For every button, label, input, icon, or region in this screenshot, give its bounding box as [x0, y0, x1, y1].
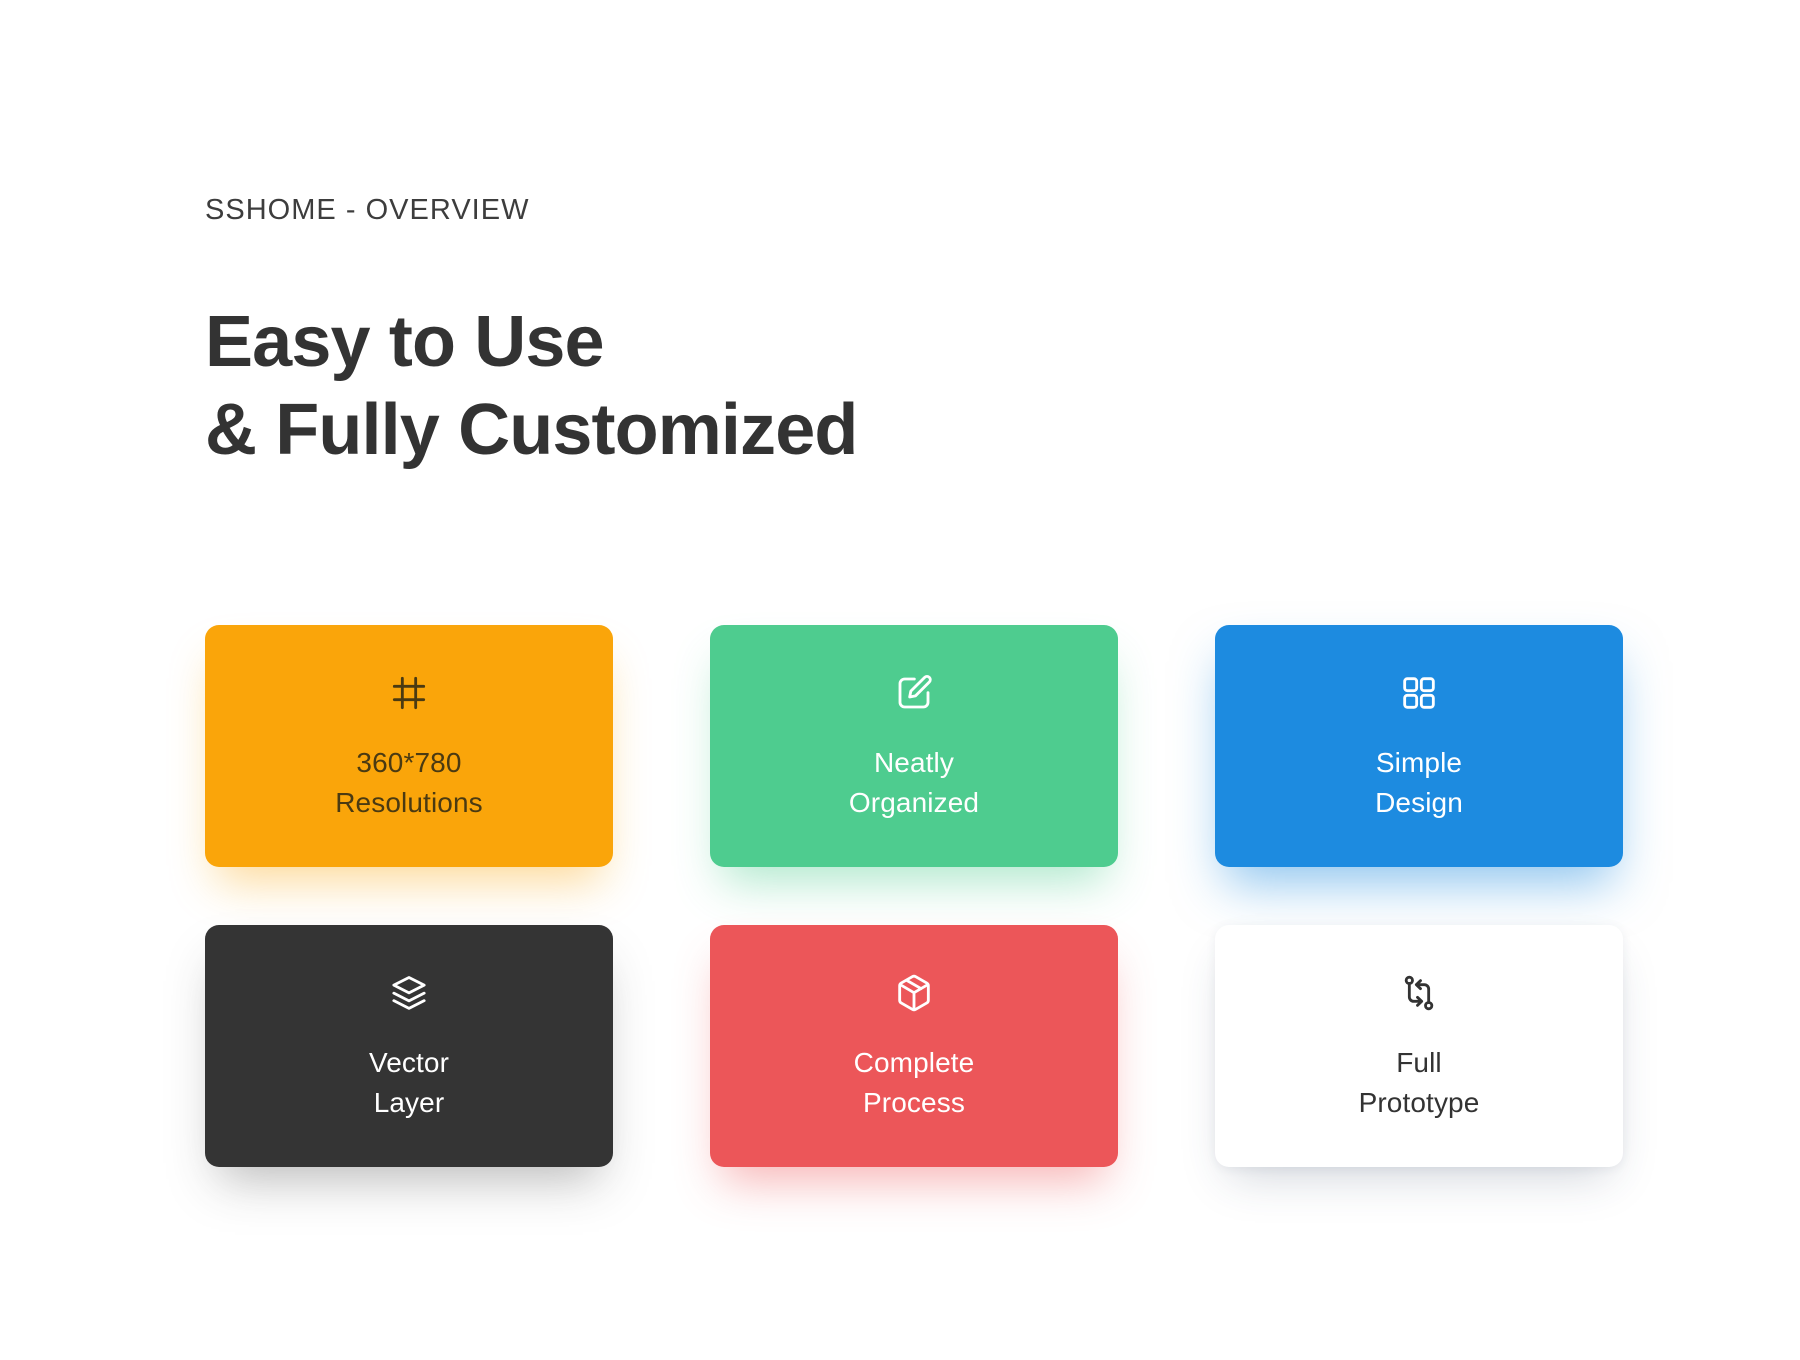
feature-card-label-line-1: Vector: [369, 1043, 449, 1083]
feature-card-label-line-2: Prototype: [1359, 1083, 1480, 1123]
feature-card-label-line-2: Resolutions: [335, 783, 483, 823]
shuffle-swap-icon: [1399, 973, 1439, 1013]
feature-card-simple-design[interactable]: Simple Design: [1215, 625, 1623, 867]
grid-apps-icon: [1399, 673, 1439, 713]
feature-card-label-line-1: Neatly: [849, 743, 979, 783]
feature-card-label-line-2: Layer: [369, 1083, 449, 1123]
edit-square-icon: [894, 673, 934, 713]
feature-card-full-prototype[interactable]: Full Prototype: [1215, 925, 1623, 1167]
page-title-line-1: Easy to Use: [205, 299, 1405, 387]
layers-icon: [389, 973, 429, 1013]
feature-card-complete-process[interactable]: Complete Process: [710, 925, 1118, 1167]
page-title-line-2: & Fully Customized: [205, 387, 1405, 475]
box-package-icon: [894, 973, 934, 1013]
feature-card-label: Full Prototype: [1359, 1043, 1480, 1123]
feature-card-grid: 360*780 Resolutions Neatly Organized: [205, 625, 1615, 1167]
feature-card-label-line-2: Design: [1375, 783, 1463, 823]
feature-card-label-line-2: Organized: [849, 783, 979, 823]
eyebrow-label: SSHOME - OVERVIEW: [205, 195, 1405, 227]
feature-card-label-line-1: Full: [1359, 1043, 1480, 1083]
feature-card-vector-layer[interactable]: Vector Layer: [205, 925, 613, 1167]
feature-card-label-line-1: Simple: [1375, 743, 1463, 783]
feature-card-resolutions[interactable]: 360*780 Resolutions: [205, 625, 613, 867]
feature-card-neatly-organized[interactable]: Neatly Organized: [710, 625, 1118, 867]
page-title: Easy to Use & Fully Customized: [205, 299, 1405, 475]
feature-card-label: Neatly Organized: [849, 743, 979, 823]
feature-card-label: Simple Design: [1375, 743, 1463, 823]
feature-card-label: Vector Layer: [369, 1043, 449, 1123]
frame-icon: [389, 673, 429, 713]
feature-card-label-line-1: 360*780: [335, 743, 483, 783]
feature-card-label-line-1: Complete: [854, 1043, 975, 1083]
feature-card-label: Complete Process: [854, 1043, 975, 1123]
feature-card-label: 360*780 Resolutions: [335, 743, 483, 823]
page-header: SSHOME - OVERVIEW Easy to Use & Fully Cu…: [205, 195, 1405, 523]
slide-canvas: SSHOME - OVERVIEW Easy to Use & Fully Cu…: [0, 0, 1800, 1360]
feature-card-label-line-2: Process: [854, 1083, 975, 1123]
